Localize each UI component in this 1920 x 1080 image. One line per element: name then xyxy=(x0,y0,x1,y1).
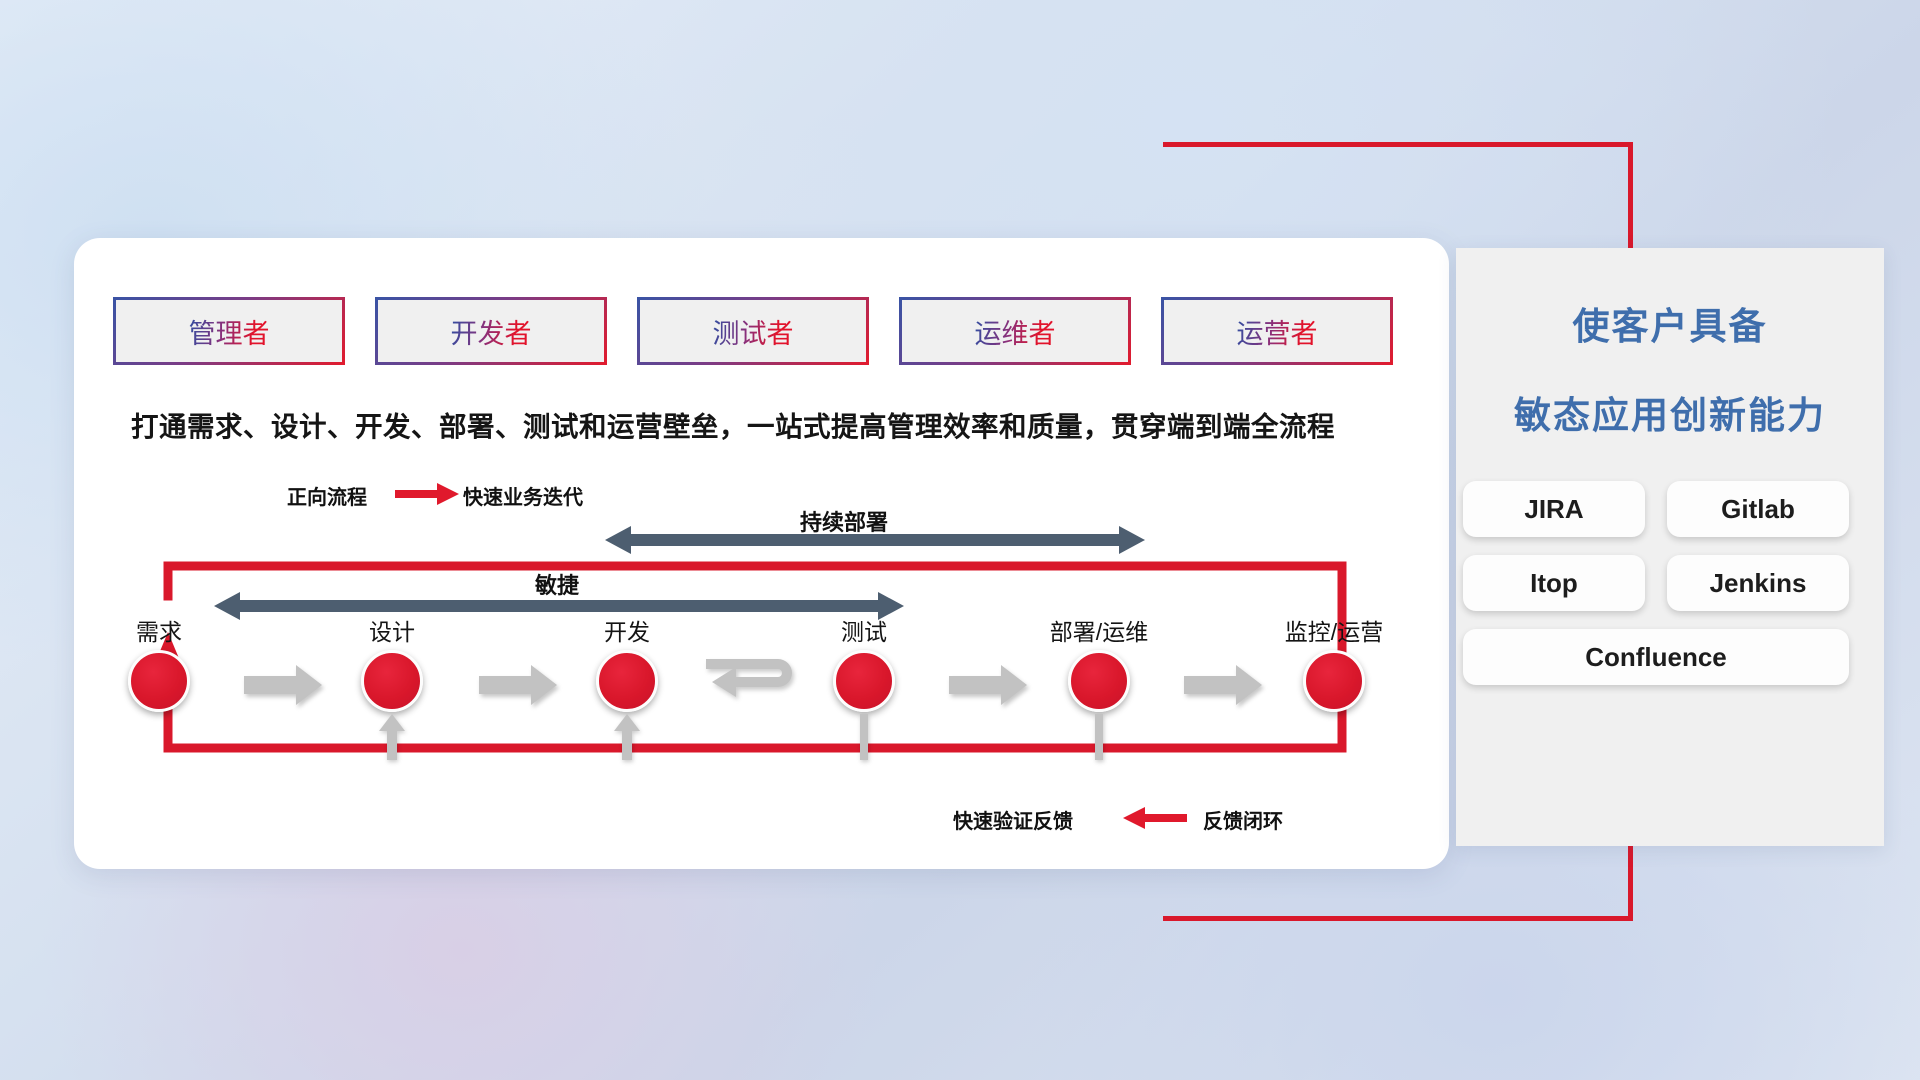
pipeline-node-testing[interactable]: 测试 xyxy=(833,650,895,712)
pipeline-node-development[interactable]: 开发 xyxy=(596,650,658,712)
role-chip-manager[interactable]: 管理者 xyxy=(113,297,345,365)
pipeline-node-label: 开发 xyxy=(604,613,650,647)
tool-pill-grid: JIRA Gitlab Itop Jenkins Confluence xyxy=(1463,481,1875,685)
role-chip-label: 测试者 xyxy=(713,312,794,351)
tool-pill-label: Gitlab xyxy=(1721,494,1795,525)
role-chip-row: 管理者 开发者 测试者 运维者 运营者 xyxy=(113,297,1393,365)
pipeline-node-monitor-operations[interactable]: 监控/运营 xyxy=(1303,650,1365,712)
tool-pill-jira[interactable]: JIRA xyxy=(1463,481,1645,537)
pipeline-node-dot xyxy=(596,650,658,712)
role-chip-label: 运维者 xyxy=(975,312,1056,351)
role-chip-label: 运营者 xyxy=(1237,312,1318,351)
tool-pill-label: Confluence xyxy=(1585,642,1727,673)
flow-arrow-5-icon xyxy=(1184,665,1262,705)
role-chip-label: 开发者 xyxy=(451,312,532,351)
capability-panel-title-line1: 使客户具备 xyxy=(1456,296,1884,350)
feed-arrow-development-icon xyxy=(614,714,640,760)
pipeline-node-dot xyxy=(361,650,423,712)
feedback-result-label: 快速验证反馈 xyxy=(953,805,1073,834)
flow-arrow-2-icon xyxy=(479,665,557,705)
tool-pill-confluence[interactable]: Confluence xyxy=(1463,629,1849,685)
pipeline-node-requirements[interactable]: 需求 xyxy=(128,650,190,712)
pipeline-node-dot xyxy=(1303,650,1365,712)
forward-flow-label: 正向流程 xyxy=(287,481,367,510)
pipeline-node-label: 设计 xyxy=(369,613,415,647)
headline-text: 打通需求、设计、开发、部署、测试和运营壁垒，一站式提高管理效率和质量，贯穿端到端… xyxy=(131,404,1335,444)
feed-stem-deploy-icon xyxy=(1091,714,1117,760)
pipeline-node-deploy-ops[interactable]: 部署/运维 xyxy=(1068,650,1130,712)
continuous-deploy-double-arrow-icon xyxy=(605,526,1145,554)
tool-pill-jenkins[interactable]: Jenkins xyxy=(1667,555,1849,611)
pipeline-node-label: 测试 xyxy=(841,613,887,647)
pipeline-node-dot xyxy=(1068,650,1130,712)
forward-flow-arrow-icon xyxy=(395,483,459,510)
dev-test-exchange-arrow-icon xyxy=(706,657,802,720)
slide-canvas: 管理者 开发者 测试者 运维者 运营者 打通需求、设计、开发、部署、测试和运营壁… xyxy=(0,0,1920,1080)
pipeline-node-label: 需求 xyxy=(136,613,182,647)
role-chip-ops[interactable]: 运维者 xyxy=(899,297,1131,365)
role-chip-operations[interactable]: 运营者 xyxy=(1161,297,1393,365)
tool-pill-label: JIRA xyxy=(1524,494,1583,525)
forward-flow-target-label: 快速业务迭代 xyxy=(463,481,583,510)
pipeline-node-label: 监控/运营 xyxy=(1285,613,1383,647)
tool-pill-label: Jenkins xyxy=(1710,568,1807,599)
capability-panel-title-line2: 敏态应用创新能力 xyxy=(1456,385,1884,439)
tool-pill-gitlab[interactable]: Gitlab xyxy=(1667,481,1849,537)
pipeline-node-design[interactable]: 设计 xyxy=(361,650,423,712)
flow-arrow-1-icon xyxy=(244,665,322,705)
pipeline-node-dot xyxy=(833,650,895,712)
tool-pill-itop[interactable]: Itop xyxy=(1463,555,1645,611)
feedback-loop-arrow-icon xyxy=(1123,807,1187,834)
feed-arrow-design-icon xyxy=(379,714,405,760)
tool-pill-label: Itop xyxy=(1530,568,1578,599)
role-chip-developer[interactable]: 开发者 xyxy=(375,297,607,365)
feed-stem-testing-icon xyxy=(856,714,882,760)
feedback-loop-label: 反馈闭环 xyxy=(1203,805,1283,834)
role-chip-label: 管理者 xyxy=(189,312,270,351)
role-chip-tester[interactable]: 测试者 xyxy=(637,297,869,365)
pipeline-node-dot xyxy=(128,650,190,712)
flow-arrow-4-icon xyxy=(949,665,1027,705)
pipeline-node-label: 部署/运维 xyxy=(1050,613,1148,647)
